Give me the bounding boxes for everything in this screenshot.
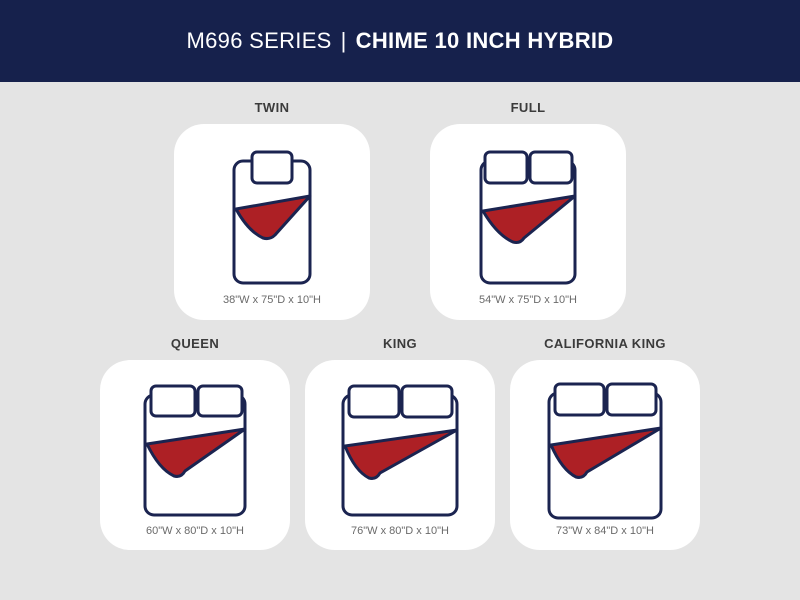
page-header: M696 SERIES | CHIME 10 INCH HYBRID <box>0 0 800 82</box>
title-separator: | <box>341 28 347 54</box>
bed-icon <box>230 149 314 287</box>
size-chart-page: M696 SERIES | CHIME 10 INCH HYBRID TWIN <box>0 0 800 600</box>
bed-icon <box>543 381 667 521</box>
size-dimensions-twin: 38"W x 75"D x 10"H <box>223 294 321 308</box>
size-card-twin[interactable]: 38"W x 75"D x 10"H <box>174 124 370 320</box>
size-block-twin: TWIN 38"W x 75"D x 10"H <box>174 100 370 320</box>
bed-icon <box>337 383 463 519</box>
size-title-california-king: CALIFORNIA KING <box>544 336 666 351</box>
page-title: M696 SERIES | CHIME 10 INCH HYBRID <box>187 28 614 54</box>
size-card-king[interactable]: 76"W x 80"D x 10"H <box>305 360 495 550</box>
bed-illustration-full <box>440 142 616 294</box>
size-title-queen: QUEEN <box>171 336 219 351</box>
size-title-full: FULL <box>511 100 546 115</box>
bed-illustration-queen <box>110 376 280 525</box>
size-grid: TWIN 38"W x 75"D x 10"H FULL <box>0 82 800 600</box>
bed-icon <box>475 149 581 287</box>
size-block-king: KING 76"W x 80"D x 10"H <box>305 336 495 550</box>
size-card-full[interactable]: 54"W x 75"D x 10"H <box>430 124 626 320</box>
size-card-queen[interactable]: 60"W x 80"D x 10"H <box>100 360 290 550</box>
size-card-california-king[interactable]: 73"W x 84"D x 10"H <box>510 360 700 550</box>
model-label: CHIME 10 INCH HYBRID <box>356 28 614 54</box>
size-block-california-king: CALIFORNIA KING 73"W x 84"D x 10"H <box>510 336 700 550</box>
size-block-queen: QUEEN 60"W x 80"D x 10"H <box>100 336 290 550</box>
bed-illustration-king <box>315 376 485 525</box>
size-dimensions-full: 54"W x 75"D x 10"H <box>479 294 577 308</box>
size-dimensions-queen: 60"W x 80"D x 10"H <box>146 525 244 539</box>
series-label: M696 SERIES <box>187 28 332 54</box>
size-title-twin: TWIN <box>255 100 290 115</box>
bed-illustration-twin <box>184 142 360 294</box>
bed-icon <box>139 383 251 519</box>
size-row-bottom: QUEEN 60"W x 80"D x 10"H KING <box>0 320 800 550</box>
size-block-full: FULL 54"W x 75"D x 10"H <box>430 100 626 320</box>
size-row-top: TWIN 38"W x 75"D x 10"H FULL <box>0 82 800 320</box>
size-dimensions-king: 76"W x 80"D x 10"H <box>351 525 449 539</box>
bed-illustration-california-king <box>520 376 690 525</box>
size-dimensions-california-king: 73"W x 84"D x 10"H <box>556 525 654 539</box>
size-title-king: KING <box>383 336 417 351</box>
